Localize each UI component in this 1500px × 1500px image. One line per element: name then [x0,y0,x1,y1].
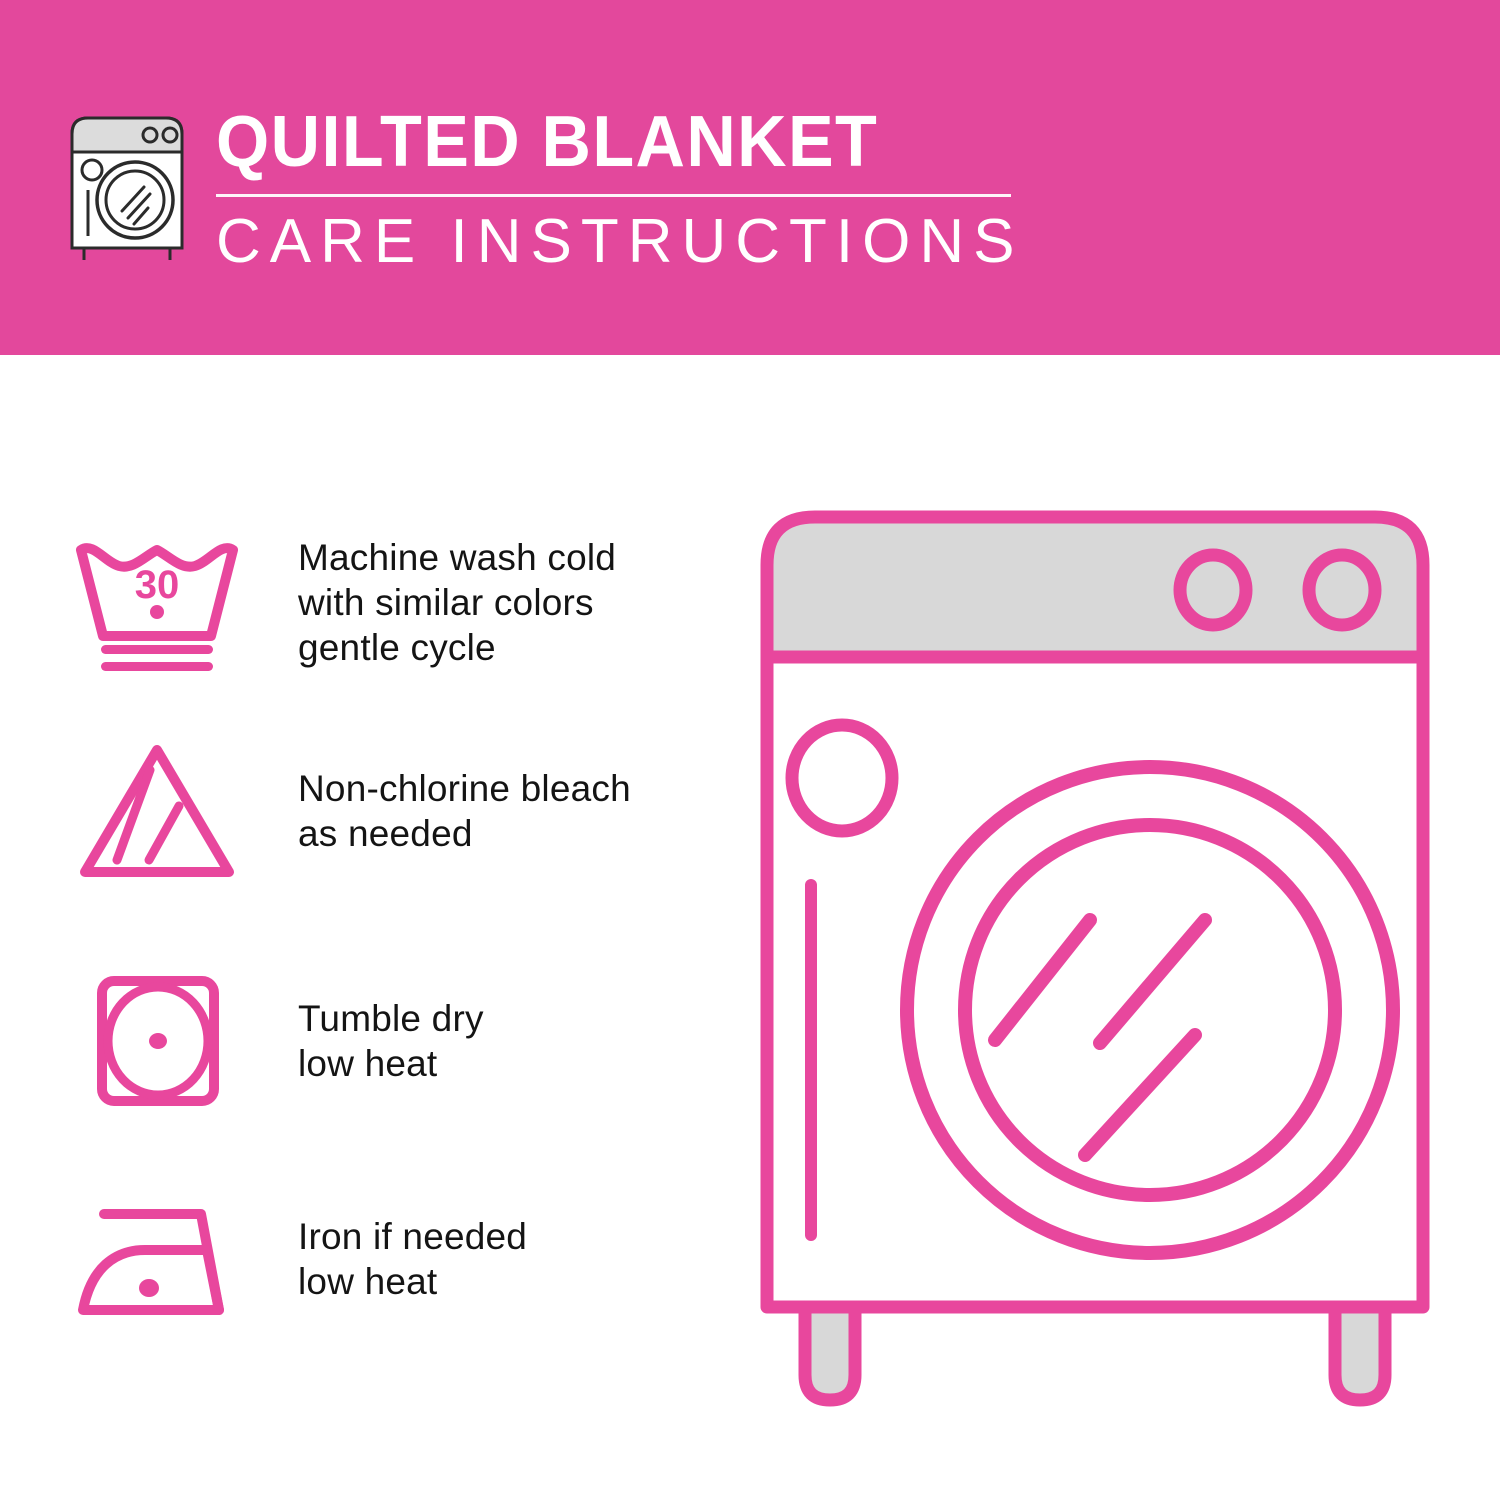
instruction-row-iron: Iron if needed low heat [0,1176,720,1341]
instruction-row-bleach: Non-chlorine bleach as needed [0,728,720,893]
instruction-text-machine-wash: Machine wash cold with similar colors ge… [298,535,616,670]
instruction-row-tumble-dry: Tumble dry low heat [0,958,720,1123]
instruction-row-machine-wash: 30 Machine wash cold with similar colors… [0,520,720,685]
foot-right [1335,1307,1385,1400]
control-panel [767,517,1423,657]
instruction-text-tumble-dry: Tumble dry low heat [298,996,484,1086]
foot-left [805,1307,855,1400]
care-instructions-page: QUILTED BLANKET CARE INSTRUCTIONS 30 [0,0,1500,1500]
washing-machine-logo-icon [62,108,192,263]
non-chlorine-bleach-triangle-icon [62,728,252,893]
page-subtitle: CARE INSTRUCTIONS [216,209,1016,275]
page-title: QUILTED BLANKET [216,104,976,180]
dispenser-indicator [792,725,892,831]
door-outer-ring [907,767,1393,1253]
instruction-text-bleach: Non-chlorine bleach as needed [298,766,631,856]
door-streaks [995,920,1205,1155]
header-banner: QUILTED BLANKET CARE INSTRUCTIONS [0,0,1500,355]
iron-low-heat-icon [62,1176,252,1341]
machine-wash-30-icon: 30 [62,520,252,685]
header-text-block: QUILTED BLANKET CARE INSTRUCTIONS [216,104,1016,275]
wash-temperature-label: 30 [135,563,180,607]
tumble-dry-low-icon [62,958,252,1123]
title-divider [216,194,1011,197]
instruction-text-iron: Iron if needed low heat [298,1214,527,1304]
front-load-washing-machine-illustration [745,495,1445,1425]
